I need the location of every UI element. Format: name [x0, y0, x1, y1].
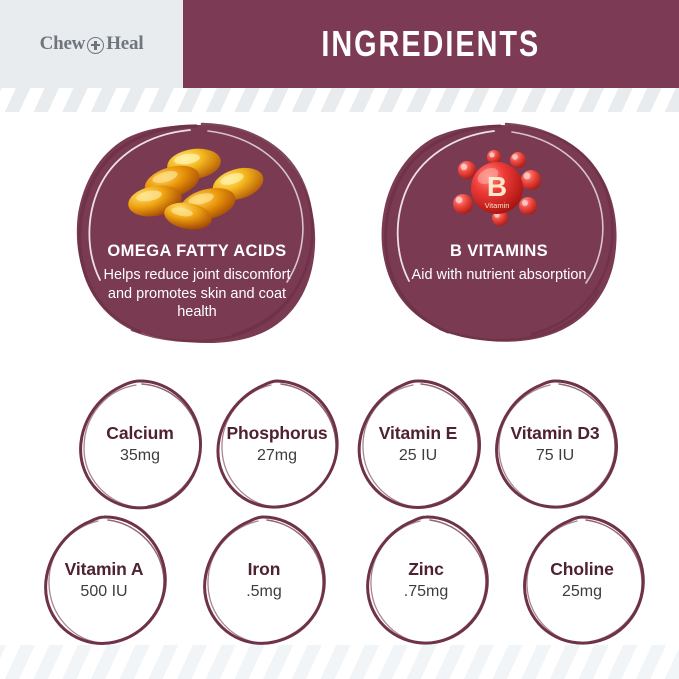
ingredient-label-group: Vitamin A 500 IU — [36, 512, 172, 648]
ingredient-label-group: Zinc .75mg — [358, 512, 494, 648]
plus-in-circle-icon — [87, 37, 104, 54]
ingredient-circle-vitamin-e: Vitamin E 25 IU — [350, 376, 486, 512]
ingredient-name: Iron — [248, 560, 281, 579]
ingredient-label-group: Vitamin E 25 IU — [350, 376, 486, 512]
title-band: INGREDIENTS — [183, 0, 679, 88]
ingredient-circle-zinc: Zinc .75mg — [358, 512, 494, 648]
fish-oil-softgel-capsules-icon — [128, 146, 266, 232]
feature-description-bvitamins: Aid with nutrient absorption — [412, 266, 587, 285]
ingredient-amount: .5mg — [246, 583, 282, 601]
ingredient-circle-vitamin-a: Vitamin A 500 IU — [36, 512, 172, 648]
feature-title-omega: OMEGA FATTY ACIDS — [107, 242, 286, 261]
page-title: INGREDIENTS — [322, 23, 541, 65]
brand-logo-panel: Chew Heal — [0, 0, 183, 88]
ingredient-name: Calcium — [106, 424, 173, 443]
ingredient-amount: 25 IU — [399, 447, 437, 465]
feature-title-bvitamins: B VITAMINS — [450, 242, 548, 261]
ingredient-label-group: Vitamin D3 75 IU — [487, 376, 623, 512]
ingredient-name: Vitamin A — [65, 560, 144, 579]
ingredient-circle-choline: Choline 25mg — [514, 512, 650, 648]
ingredient-label-group: Phosphorus 27mg — [209, 376, 345, 512]
ingredient-amount: 27mg — [257, 447, 297, 465]
ingredient-circle-vitamin-d3: Vitamin D3 75 IU — [487, 376, 623, 512]
feature-card-b-vitamins: B Vitamin B VITAMINS Aid with nutrient a… — [374, 122, 624, 344]
svg-text:B: B — [487, 171, 507, 202]
feature-content-bvitamins: B Vitamin B VITAMINS Aid with nutrient a… — [374, 122, 624, 344]
ingredient-circle-calcium: Calcium 35mg — [72, 376, 208, 512]
diagonal-stripes-top — [0, 88, 679, 112]
ingredient-circle-phosphorus: Phosphorus 27mg — [209, 376, 345, 512]
ingredient-label-group: Iron .5mg — [196, 512, 332, 648]
svg-text:Vitamin: Vitamin — [485, 201, 510, 210]
feature-content-omega: OMEGA FATTY ACIDS Helps reduce joint dis… — [72, 122, 322, 344]
ingredient-amount: 35mg — [120, 447, 160, 465]
feature-card-omega-fatty-acids: OMEGA FATTY ACIDS Helps reduce joint dis… — [72, 122, 322, 344]
header-bar: Chew Heal INGREDIENTS — [0, 0, 679, 88]
diagonal-stripes-bottom — [0, 645, 679, 679]
ingredient-label-group: Choline 25mg — [514, 512, 650, 648]
ingredients-infographic: Chew Heal INGREDIENTS — [0, 0, 679, 679]
ingredient-name: Vitamin E — [379, 424, 458, 443]
ingredient-label-group: Calcium 35mg — [72, 376, 208, 512]
brand-word-left: Chew — [40, 33, 86, 55]
ingredient-name: Vitamin D3 — [510, 424, 599, 443]
ingredient-name: Zinc — [408, 560, 444, 579]
ingredient-name: Phosphorus — [226, 424, 327, 443]
b-vitamin-molecule-sphere-icon: B Vitamin — [444, 146, 554, 232]
ingredient-amount: 500 IU — [80, 583, 127, 601]
brand-logo: Chew Heal — [40, 33, 144, 55]
ingredient-amount: .75mg — [404, 583, 448, 601]
ingredient-name: Choline — [550, 560, 613, 579]
brand-word-right: Heal — [106, 33, 143, 55]
ingredient-circle-iron: Iron .5mg — [196, 512, 332, 648]
feature-description-omega: Helps reduce joint discomfort and promot… — [90, 266, 305, 322]
ingredient-amount: 25mg — [562, 583, 602, 601]
ingredient-amount: 75 IU — [536, 447, 574, 465]
